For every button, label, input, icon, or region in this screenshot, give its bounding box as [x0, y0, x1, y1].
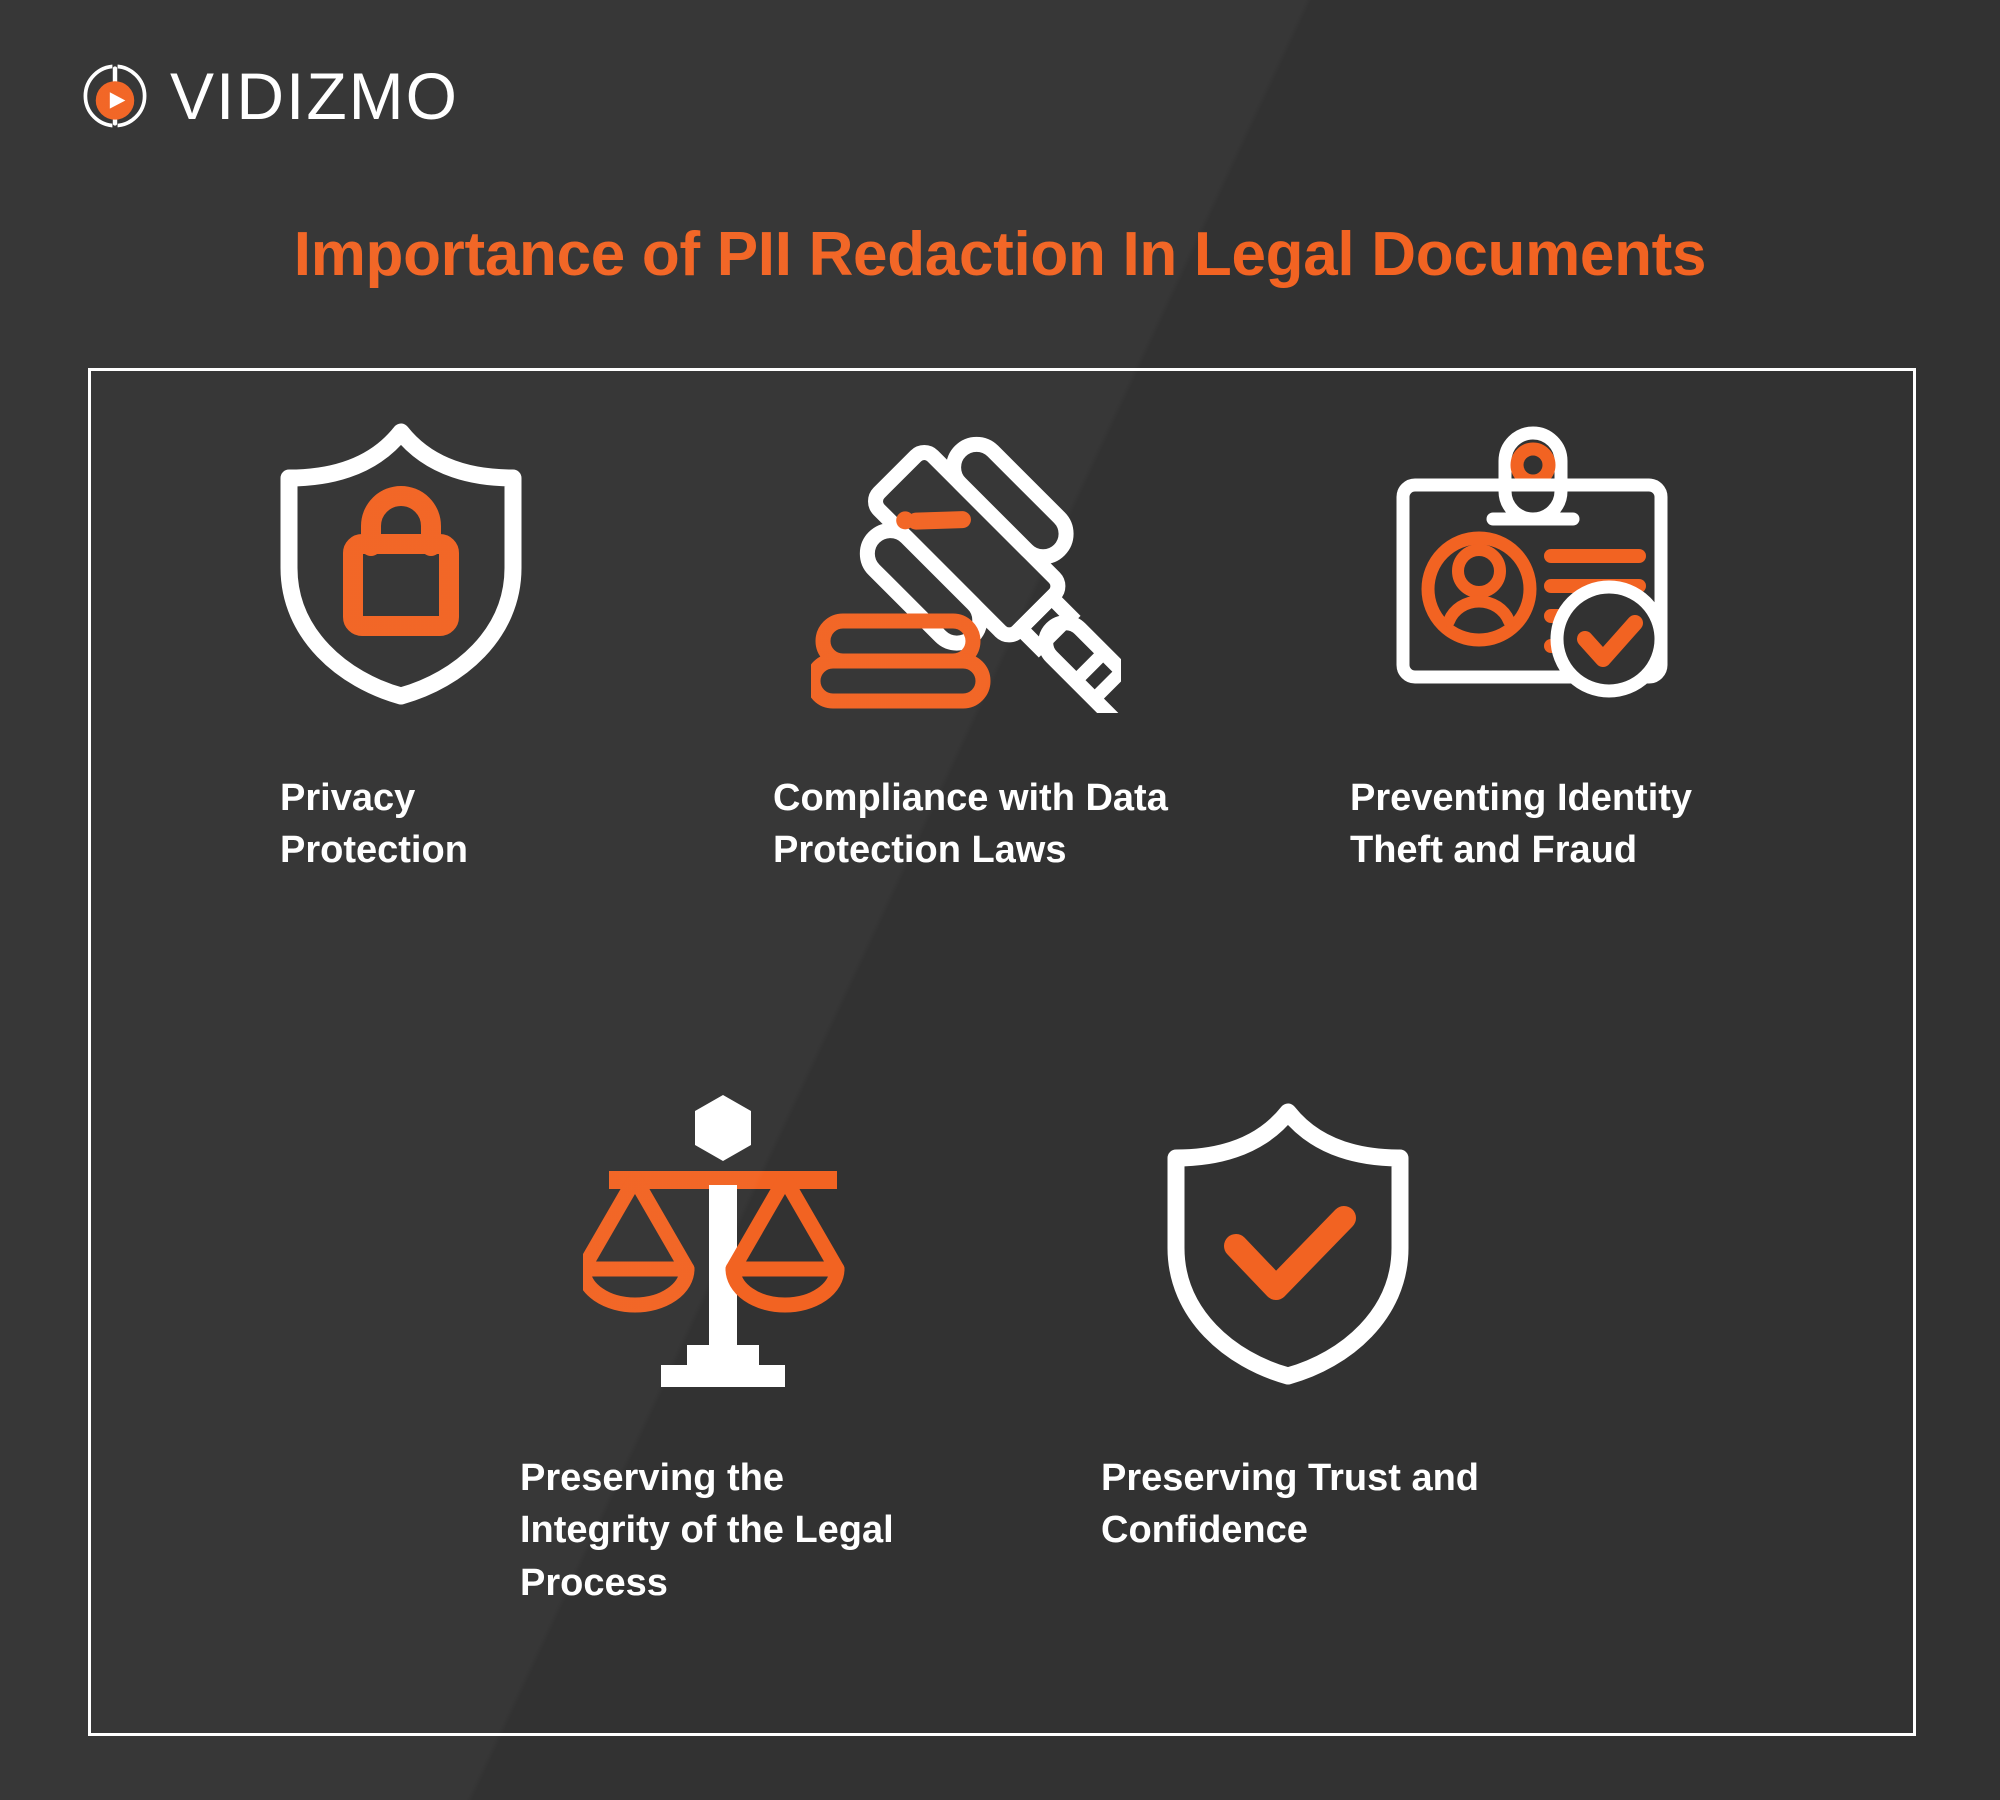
feature-row-bottom: Preserving the Integrity of the Legal Pr… [440, 1078, 1570, 1609]
brand-wordmark: VIDIZMO [170, 63, 459, 129]
gavel-icon [763, 398, 1168, 728]
feature-item-trust-confidence: Preserving Trust and Confidence [1005, 1078, 1570, 1609]
scales-of-justice-icon [520, 1078, 925, 1408]
feature-label: Preventing Identity Theft and Fraud [1328, 772, 1733, 877]
feature-label: Preserving Trust and Confidence [1085, 1452, 1490, 1557]
feature-label: Compliance with Data Protection Laws [763, 772, 1168, 877]
shield-check-icon [1085, 1078, 1490, 1408]
feature-item-privacy-protection: Privacy Protection [118, 398, 683, 877]
feature-label: Privacy Protection [198, 772, 603, 877]
feature-row-top: Privacy Protection [118, 398, 1813, 877]
vidizmo-play-logo-icon [78, 59, 152, 133]
shield-lock-icon [198, 398, 603, 728]
feature-item-compliance-laws: Compliance with Data Protection Laws [683, 398, 1248, 877]
page-title: Importance of PII Redaction In Legal Doc… [0, 222, 2000, 287]
feature-item-legal-integrity: Preserving the Integrity of the Legal Pr… [440, 1078, 1005, 1609]
brand-logo: VIDIZMO [78, 58, 459, 134]
feature-item-identity-theft: Preventing Identity Theft and Fraud [1248, 398, 1813, 877]
id-badge-verified-icon [1328, 398, 1733, 728]
infographic-page: VIDIZMO Importance of PII Redaction In L… [0, 0, 2000, 1800]
feature-label: Preserving the Integrity of the Legal Pr… [520, 1452, 925, 1609]
